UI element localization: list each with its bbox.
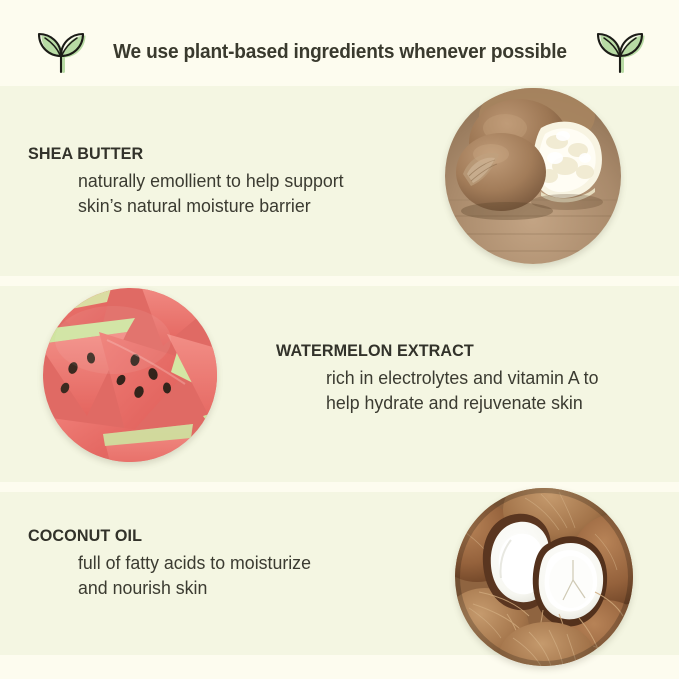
ingredient-block-shea-butter: SHEA BUTTER naturally emollient to help …	[28, 144, 428, 218]
coconut-photo	[455, 488, 633, 666]
header: We use plant-based ingredients whenever …	[0, 24, 679, 80]
ingredient-block-watermelon-extract: WATERMELON EXTRACT rich in electrolytes …	[276, 341, 666, 415]
shea-butter-photo	[445, 88, 621, 264]
background-band-gap-2	[0, 482, 679, 492]
ingredient-block-coconut-oil: COCONUT OIL full of fatty acids to moist…	[28, 526, 428, 600]
ingredient-description-watermelon-extract: rich in electrolytes and vitamin A to he…	[326, 365, 652, 415]
header-title: We use plant-based ingredients whenever …	[113, 40, 567, 64]
background-band-gap-1	[0, 276, 679, 286]
ingredient-title-shea-butter: SHEA BUTTER	[28, 144, 408, 164]
ingredient-title-coconut-oil: COCONUT OIL	[28, 526, 408, 546]
leaf-sprout-icon-left	[34, 28, 86, 76]
leaf-sprout-icon-right	[593, 28, 645, 76]
ingredients-infographic: We use plant-based ingredients whenever …	[0, 0, 679, 679]
watermelon-photo	[43, 288, 217, 462]
ingredient-description-shea-butter: naturally emollient to help support skin…	[78, 168, 414, 218]
ingredient-title-watermelon-extract: WATERMELON EXTRACT	[276, 341, 647, 361]
ingredient-description-coconut-oil: full of fatty acids to moisturize and no…	[78, 550, 414, 600]
